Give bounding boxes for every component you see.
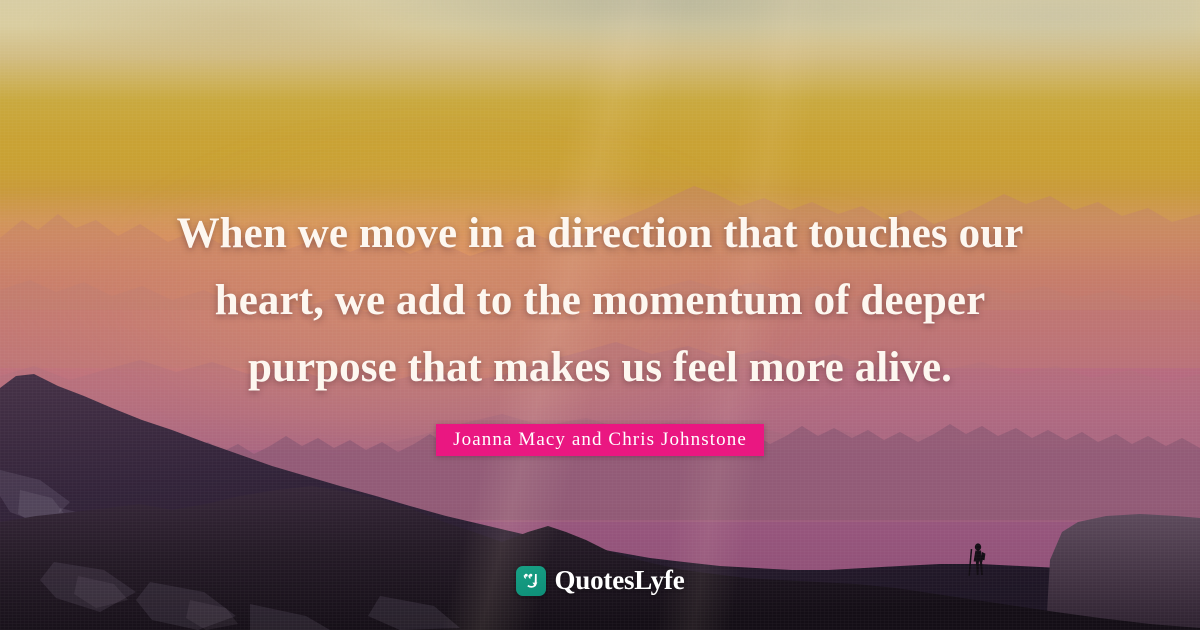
quote-line-3: purpose that makes us feel more alive.: [100, 334, 1100, 401]
quote-smiley-icon: [516, 566, 546, 596]
author-container: Joanna Macy and Chris Johnstone: [0, 424, 1200, 456]
author-badge: Joanna Macy and Chris Johnstone: [436, 424, 764, 456]
brand-logo: QuotesLyfe: [0, 565, 1200, 596]
foreground-summit-ridge: [0, 470, 1200, 630]
quote-line-1: When we move in a direction that touches…: [100, 200, 1100, 267]
cloud-haze: [0, 0, 1200, 100]
quote-card: When we move in a direction that touches…: [0, 0, 1200, 630]
quote-line-2: heart, we add to the momentum of deeper: [100, 267, 1100, 334]
brand-name: QuotesLyfe: [555, 565, 685, 596]
quote-text: When we move in a direction that touches…: [0, 200, 1200, 401]
